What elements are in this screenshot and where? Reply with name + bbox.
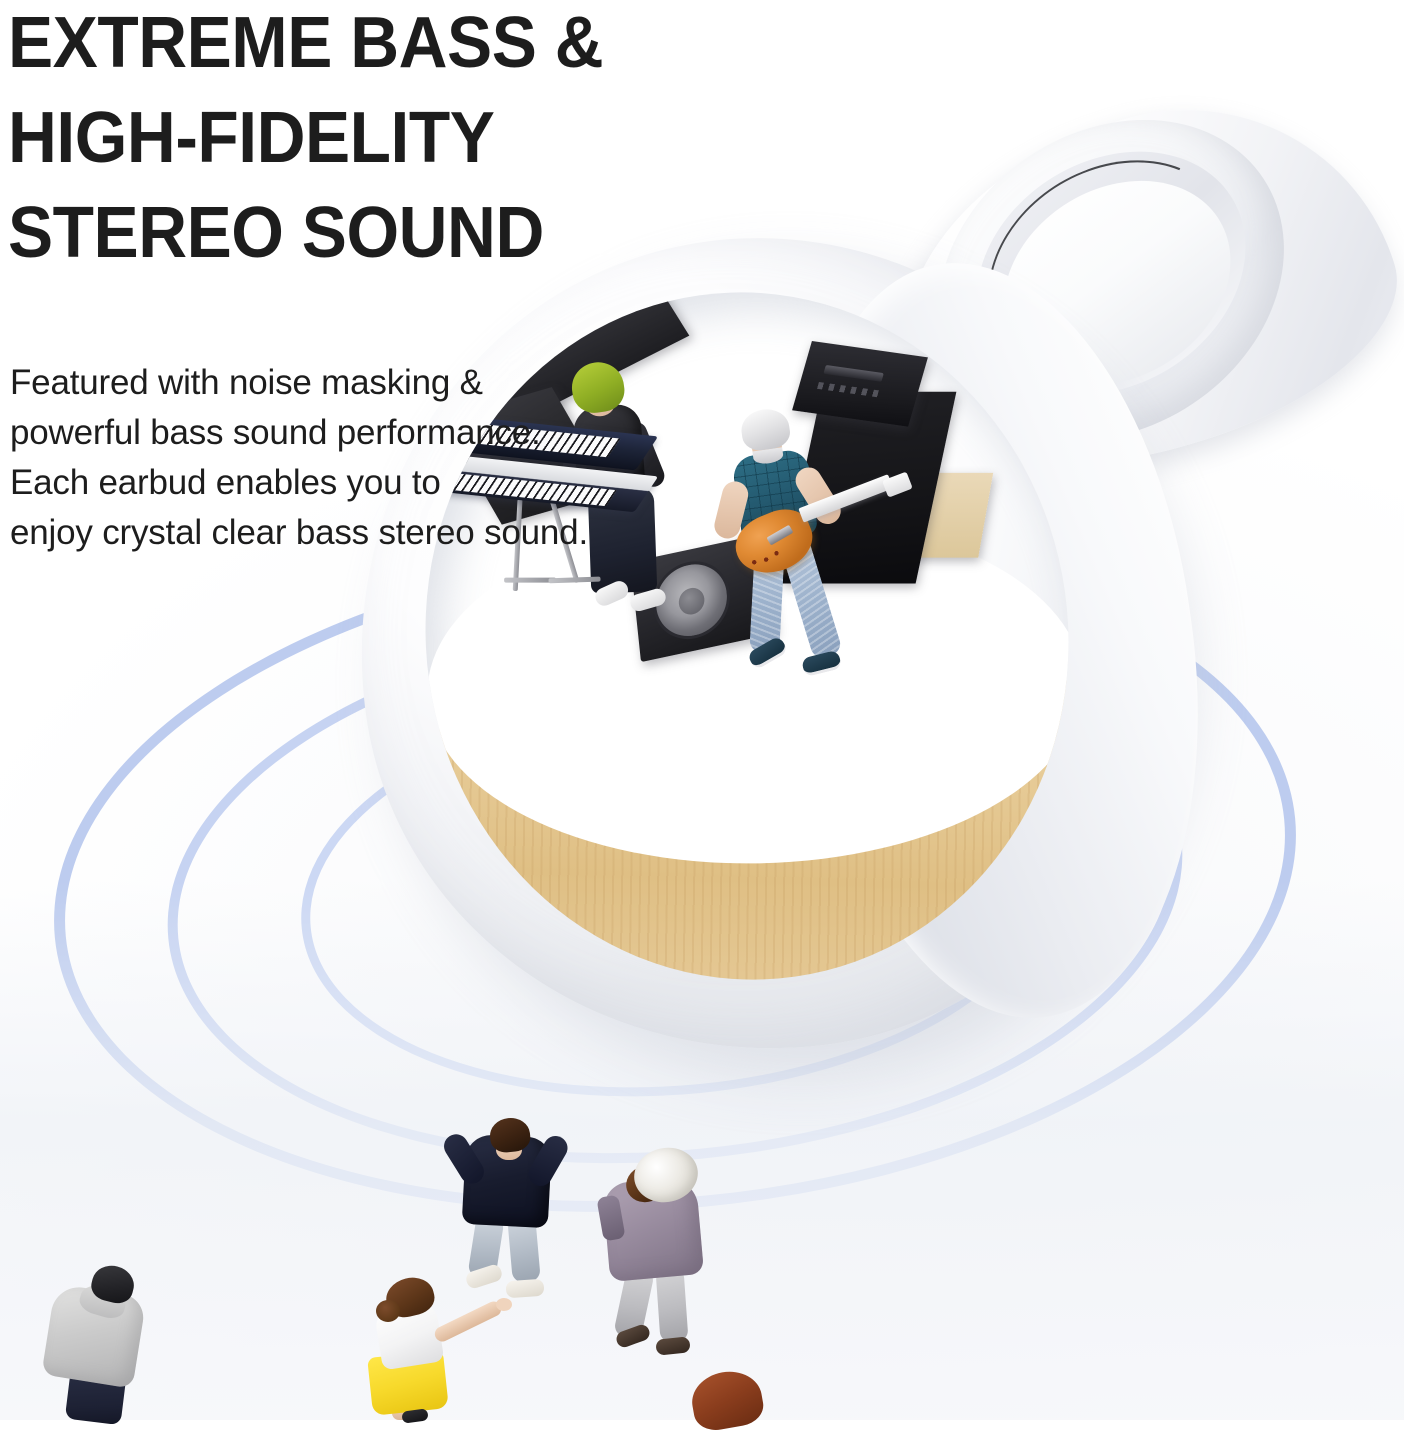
audience-auburn-hair-person [686,1372,776,1428]
audience-grey-hoodie-person [40,1262,150,1418]
body-line-4: enjoy crystal clear bass stereo sound. [10,508,770,558]
hat-person-pants-right [655,1267,688,1343]
navy-person-shoe-right [505,1279,544,1299]
body-line-2: powerful bass sound performance. [10,408,770,458]
headline-line-1: EXTREME BASS & [8,0,816,91]
body-line-1: Featured with noise masking & [10,358,770,408]
auburn-person-hair [688,1366,767,1433]
amp-knobs-icon [817,382,883,398]
guitarist-shoe-right [801,650,842,678]
headline-line-2: HIGH-FIDELITY [8,91,816,186]
audience-white-hat-person [596,1148,726,1358]
headline-line-3: STEREO SOUND [8,186,816,281]
audience-navy-jacket-person [448,1110,578,1310]
yellow-woman-shoe [401,1408,428,1424]
body-line-3: Each earbud enables you to [10,458,770,508]
page-headline: EXTREME BASS & HIGH-FIDELITY STEREO SOUN… [8,0,816,281]
amp-handle-icon [823,365,883,382]
guitar-pickup-icon [766,525,793,546]
hat-person-shoe-right [655,1336,690,1355]
yellow-woman-hand [496,1298,512,1311]
page-body-copy: Featured with noise masking & powerful b… [10,358,770,558]
yellow-woman-hair-bun [376,1300,400,1322]
